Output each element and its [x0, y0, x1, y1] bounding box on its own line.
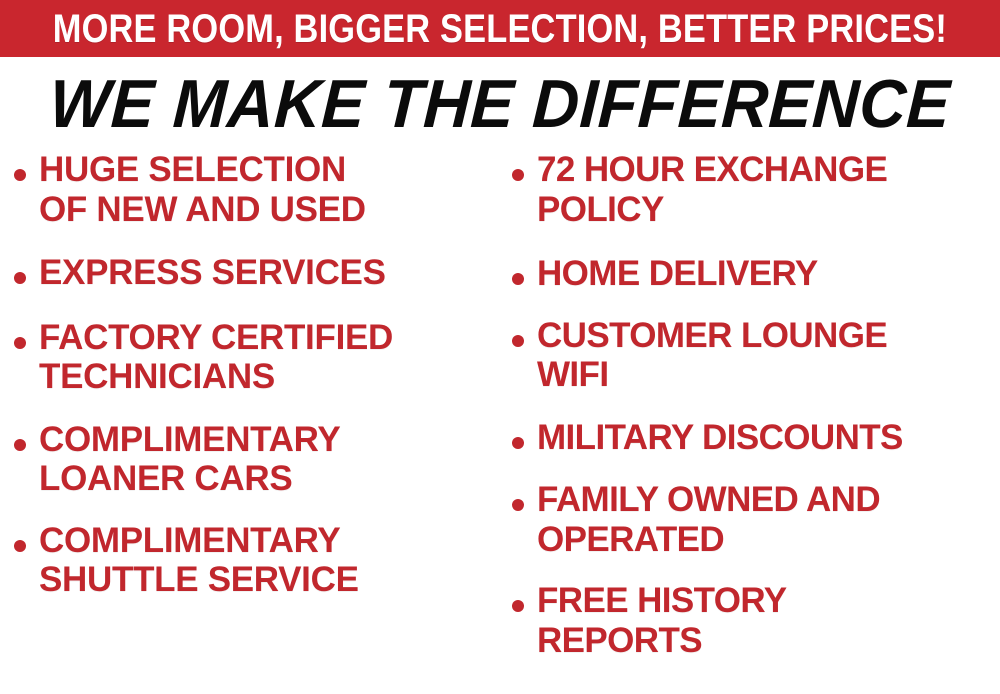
benefit-text: 72 HOUR EXCHANGE POLICY	[537, 150, 1000, 229]
list-item: COMPLIMENTARY LOANER CARS	[14, 420, 492, 499]
bullet-dot-icon	[14, 169, 26, 181]
bullet-dot-icon	[512, 499, 524, 511]
list-item: FAMILY OWNED AND OPERATED	[512, 480, 1000, 559]
benefit-text: FAMILY OWNED AND OPERATED	[537, 480, 1000, 559]
bullet-dot-icon	[512, 169, 524, 181]
list-item: EXPRESS SERVICES	[14, 253, 492, 293]
dealership-benefits-poster: MORE ROOM, BIGGER SELECTION, BETTER PRIC…	[0, 0, 1000, 694]
benefit-text: FACTORY CERTIFIED TECHNICIANS	[39, 318, 492, 397]
bullet-dot-icon	[512, 335, 524, 347]
bullet-dot-icon	[14, 439, 26, 451]
list-item: CUSTOMER LOUNGE WIFI	[512, 316, 1000, 395]
promo-banner-text: MORE ROOM, BIGGER SELECTION, BETTER PRIC…	[53, 9, 947, 49]
benefit-text: EXPRESS SERVICES	[39, 253, 492, 293]
bullet-dot-icon	[14, 540, 26, 552]
list-item: 72 HOUR EXCHANGE POLICY	[512, 150, 1000, 229]
headline-container: WE MAKE THE DIFFERENCE	[0, 66, 1000, 142]
list-item: HOME DELIVERY	[512, 254, 1000, 294]
benefit-text: HOME DELIVERY	[537, 254, 1000, 294]
benefit-text: MILITARY DISCOUNTS	[537, 418, 1000, 458]
benefit-text: CUSTOMER LOUNGE WIFI	[537, 316, 1000, 395]
benefit-text: COMPLIMENTARY SHUTTLE SERVICE	[39, 521, 492, 600]
benefits-column-right: 72 HOUR EXCHANGE POLICY HOME DELIVERY CU…	[512, 150, 1000, 680]
top-promo-banner: MORE ROOM, BIGGER SELECTION, BETTER PRIC…	[0, 0, 1000, 57]
bullet-dot-icon	[512, 600, 524, 612]
list-item: HUGE SELECTION OF NEW AND USED	[14, 150, 492, 229]
bullet-dot-icon	[512, 273, 524, 285]
page-title: WE MAKE THE DIFFERENCE	[48, 70, 952, 138]
benefit-text: HUGE SELECTION OF NEW AND USED	[39, 150, 492, 229]
list-item: COMPLIMENTARY SHUTTLE SERVICE	[14, 521, 492, 600]
benefits-columns: HUGE SELECTION OF NEW AND USED EXPRESS S…	[0, 150, 1000, 694]
list-item: MILITARY DISCOUNTS	[512, 418, 1000, 458]
benefits-column-left: HUGE SELECTION OF NEW AND USED EXPRESS S…	[14, 150, 492, 620]
bullet-dot-icon	[14, 272, 26, 284]
benefit-text: COMPLIMENTARY LOANER CARS	[39, 420, 492, 499]
benefit-text: FREE HISTORY REPORTS	[537, 581, 1000, 660]
list-item: FREE HISTORY REPORTS	[512, 581, 1000, 660]
bullet-dot-icon	[512, 437, 524, 449]
list-item: FACTORY CERTIFIED TECHNICIANS	[14, 318, 492, 397]
bullet-dot-icon	[14, 337, 26, 349]
